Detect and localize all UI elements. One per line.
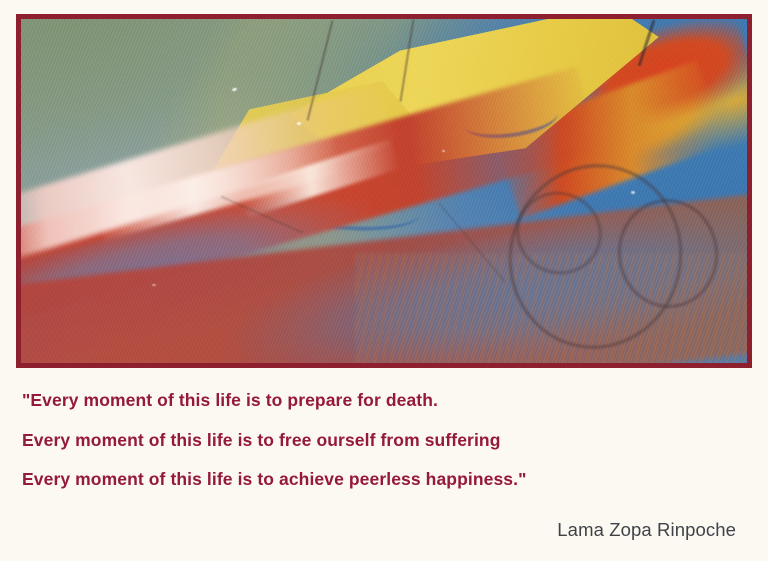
quote-line-2: Every moment of this life is to free our…: [22, 432, 768, 450]
pastel-painting-frame: [16, 14, 752, 368]
quote-line-1: "Every moment of this life is to prepare…: [22, 392, 768, 410]
painting-highlight-fleck-four: [631, 191, 635, 194]
pastel-painting-canvas: [21, 19, 747, 363]
quote-block: "Every moment of this life is to prepare…: [0, 392, 768, 511]
painting-highlight-fleck-three: [442, 150, 445, 152]
painting-highlight-fleck-five: [152, 284, 156, 286]
quote-attribution: Lama Zopa Rinpoche: [0, 521, 736, 540]
quote-line-3: Every moment of this life is to achieve …: [22, 471, 768, 489]
